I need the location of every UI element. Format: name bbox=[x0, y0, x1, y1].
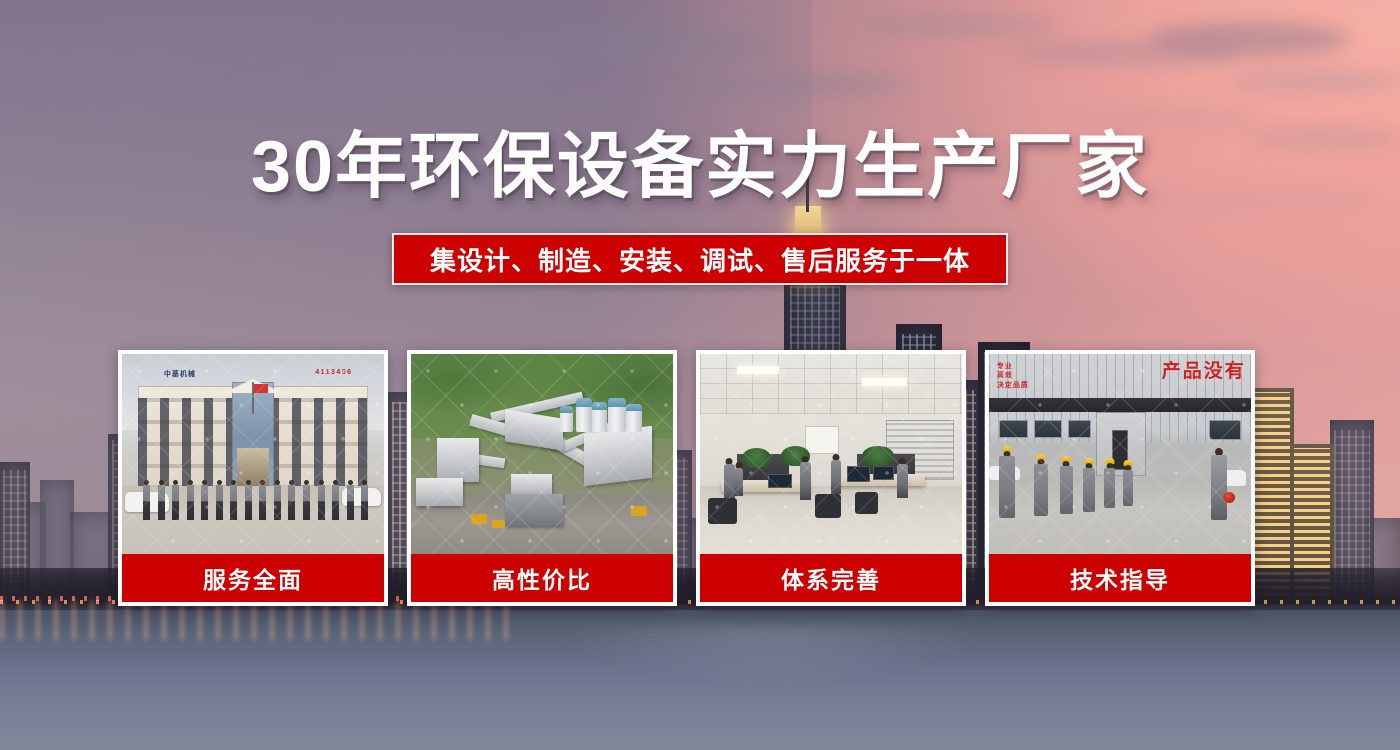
subtitle-text: 集设计、制造、安装、调试、售后服务于一体 bbox=[430, 241, 970, 278]
card-caption: 服务全面 bbox=[122, 554, 384, 602]
card-caption: 体系完善 bbox=[700, 554, 962, 602]
feature-card[interactable]: 体系完善 bbox=[696, 350, 966, 606]
company-building-staff-photo: 中基机械 4113456 bbox=[122, 354, 384, 554]
feature-card[interactable]: 高性价比 bbox=[407, 350, 677, 606]
factory-workers-training-photo: 产品没有 专业高效决定品质 bbox=[989, 354, 1251, 554]
page-title: 30年环保设备实力生产厂家 bbox=[0, 131, 1400, 203]
card-caption: 高性价比 bbox=[411, 554, 673, 602]
factory-sign-small-text: 专业高效决定品质 bbox=[997, 362, 1029, 390]
water-reflections bbox=[0, 600, 520, 640]
feature-card[interactable]: 产品没有 专业高效决定品质 bbox=[985, 350, 1255, 606]
subtitle-ribbon: 集设计、制造、安装、调试、售后服务于一体 bbox=[392, 233, 1008, 285]
hero-banner: 30年环保设备实力生产厂家 集设计、制造、安装、调试、售后服务于一体 bbox=[0, 0, 1400, 750]
card-caption: 技术指导 bbox=[989, 554, 1251, 602]
aerial-industrial-plant-photo bbox=[411, 354, 673, 554]
factory-sign-text: 产品没有 bbox=[1162, 356, 1246, 383]
building-phone-text: 4113456 bbox=[315, 369, 352, 376]
water-sheen bbox=[532, 626, 1008, 736]
feature-card[interactable]: 中基机械 4113456 服务全面 bbox=[118, 350, 388, 606]
feature-card-row: 中基机械 4113456 服务全面 bbox=[118, 350, 1282, 606]
office-interior-staff-photo bbox=[700, 354, 962, 554]
building-sign-text: 中基机械 bbox=[164, 369, 196, 379]
